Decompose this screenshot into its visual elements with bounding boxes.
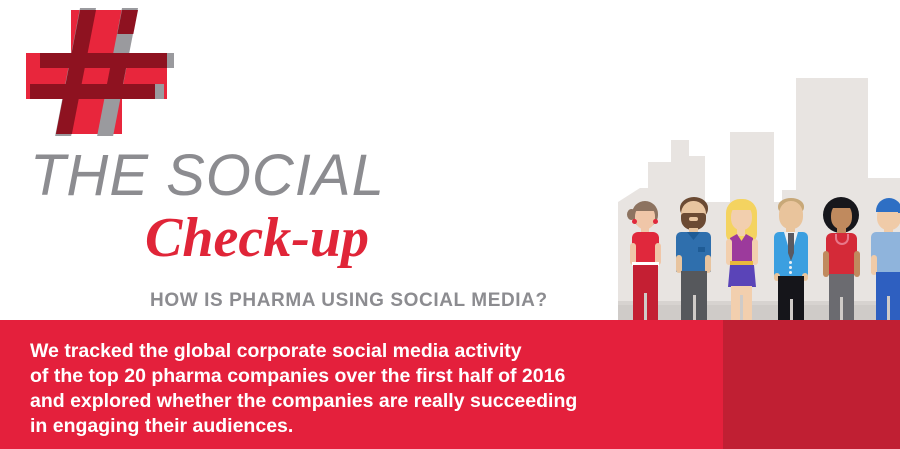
person-5-woman-dark-hair-red-top: [819, 195, 863, 320]
page-title: THE SOCIAL: [30, 142, 385, 209]
person-4-button-2: [789, 266, 792, 269]
person-3-leg-gap: [740, 295, 743, 320]
banner-line-2: of the top 20 pharma companies over the …: [30, 364, 710, 389]
person-1-woman-bun-red: [626, 195, 666, 320]
person-6-cap-crown: [876, 198, 900, 212]
banner-line-3: and explored whether the companies are r…: [30, 389, 710, 414]
person-4-leg-gap: [790, 299, 793, 320]
person-4-button-1: [789, 261, 792, 264]
page-subtitle: Check-up: [145, 206, 369, 270]
banner-line-4: in engaging their audiences.: [30, 414, 710, 439]
person-3-blonde-woman-purple: [721, 195, 763, 320]
person-3-fringe: [730, 201, 753, 210]
tagline: HOW IS PHARMA USING SOCIAL MEDIA?: [150, 290, 548, 312]
person-4-button-3: [789, 271, 792, 274]
person-4-head: [779, 201, 803, 229]
person-2-pocket: [698, 247, 705, 252]
person-5-fringe: [830, 200, 853, 208]
banner-line-1: We tracked the global corporate social m…: [30, 339, 710, 364]
person-3-skirt: [728, 265, 756, 287]
person-6-man-blue-cap: [868, 195, 900, 320]
intro-banner-text: We tracked the global corporate social m…: [30, 339, 710, 439]
person-1-earring-right: [653, 219, 658, 224]
person-1-earring-left: [632, 219, 637, 224]
person-5-leg-gap: [840, 297, 843, 320]
person-3-neck: [737, 228, 745, 236]
person-6-leg-gap: [887, 296, 890, 320]
person-5-arm-right: [854, 251, 860, 277]
person-1-hair-fringe: [634, 203, 656, 211]
infographic-header: THE SOCIAL Check-up HOW IS PHARMA USING …: [0, 0, 900, 449]
person-2-mouth: [689, 217, 698, 221]
hashtag-cross-logo-icon: [18, 8, 168, 136]
person-1-leg-gap: [644, 293, 647, 320]
logo-overlap-bar-right: [117, 10, 138, 34]
logo-overlap-rule-bottom: [30, 84, 155, 99]
people-group: [618, 195, 900, 320]
person-2-bearded-man-blue-polo: [673, 195, 715, 320]
person-4-man-blue-suit: [769, 195, 813, 320]
person-2-leg-gap: [693, 295, 696, 320]
logo-overlap-rule-top: [40, 53, 167, 68]
